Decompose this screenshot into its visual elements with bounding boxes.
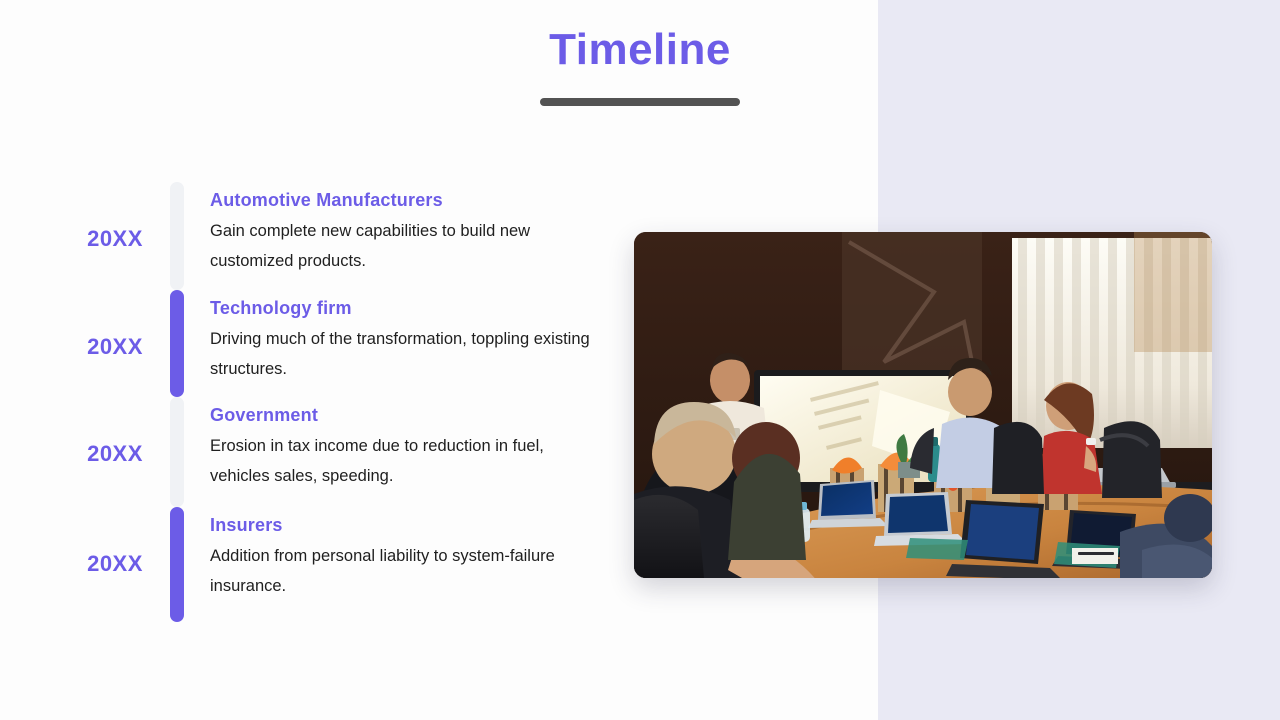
timeline-item-body: Government Erosion in tax income due to …	[184, 397, 620, 505]
timeline-item-bar	[170, 397, 184, 507]
timeline-item-year: 20XX	[60, 290, 170, 360]
timeline-item[interactable]: 20XX Government Erosion in tax income du…	[60, 397, 620, 507]
page-title: Timeline	[0, 26, 1280, 74]
timeline-item-description: Driving much of the transformation, topp…	[210, 324, 600, 384]
timeline-item-description: Gain complete new capabilities to build …	[210, 216, 600, 276]
timeline-item-description: Erosion in tax income due to reduction i…	[210, 431, 600, 491]
timeline-item-year: 20XX	[60, 182, 170, 252]
timeline-item-title: Government	[210, 405, 620, 426]
timeline-item[interactable]: 20XX Insurers Addition from personal lia…	[60, 507, 620, 622]
meeting-photo-illustration	[634, 232, 1212, 578]
timeline-item-bar	[170, 507, 184, 622]
timeline-item-description: Addition from personal liability to syst…	[210, 541, 600, 601]
header: Timeline	[0, 26, 1280, 106]
timeline-list: 20XX Automotive Manufacturers Gain compl…	[60, 182, 620, 622]
timeline-item-title: Technology firm	[210, 298, 620, 319]
timeline-item-bar	[170, 290, 184, 397]
timeline-item-title: Insurers	[210, 515, 620, 536]
meeting-photo	[634, 232, 1212, 578]
timeline-item-body: Technology firm Driving much of the tran…	[184, 290, 620, 398]
timeline-item-year: 20XX	[60, 507, 170, 577]
timeline-item-body: Automotive Manufacturers Gain complete n…	[184, 182, 620, 290]
timeline-item-body: Insurers Addition from personal liabilit…	[184, 507, 620, 615]
slide-root: Timeline 20XX Automotive Manufacturers G…	[0, 0, 1280, 720]
timeline-item-title: Automotive Manufacturers	[210, 190, 620, 211]
title-underline-rule	[540, 98, 740, 106]
timeline-item[interactable]: 20XX Technology firm Driving much of the…	[60, 290, 620, 397]
timeline-item-year: 20XX	[60, 397, 170, 467]
timeline-item-bar	[170, 182, 184, 290]
timeline-item[interactable]: 20XX Automotive Manufacturers Gain compl…	[60, 182, 620, 290]
